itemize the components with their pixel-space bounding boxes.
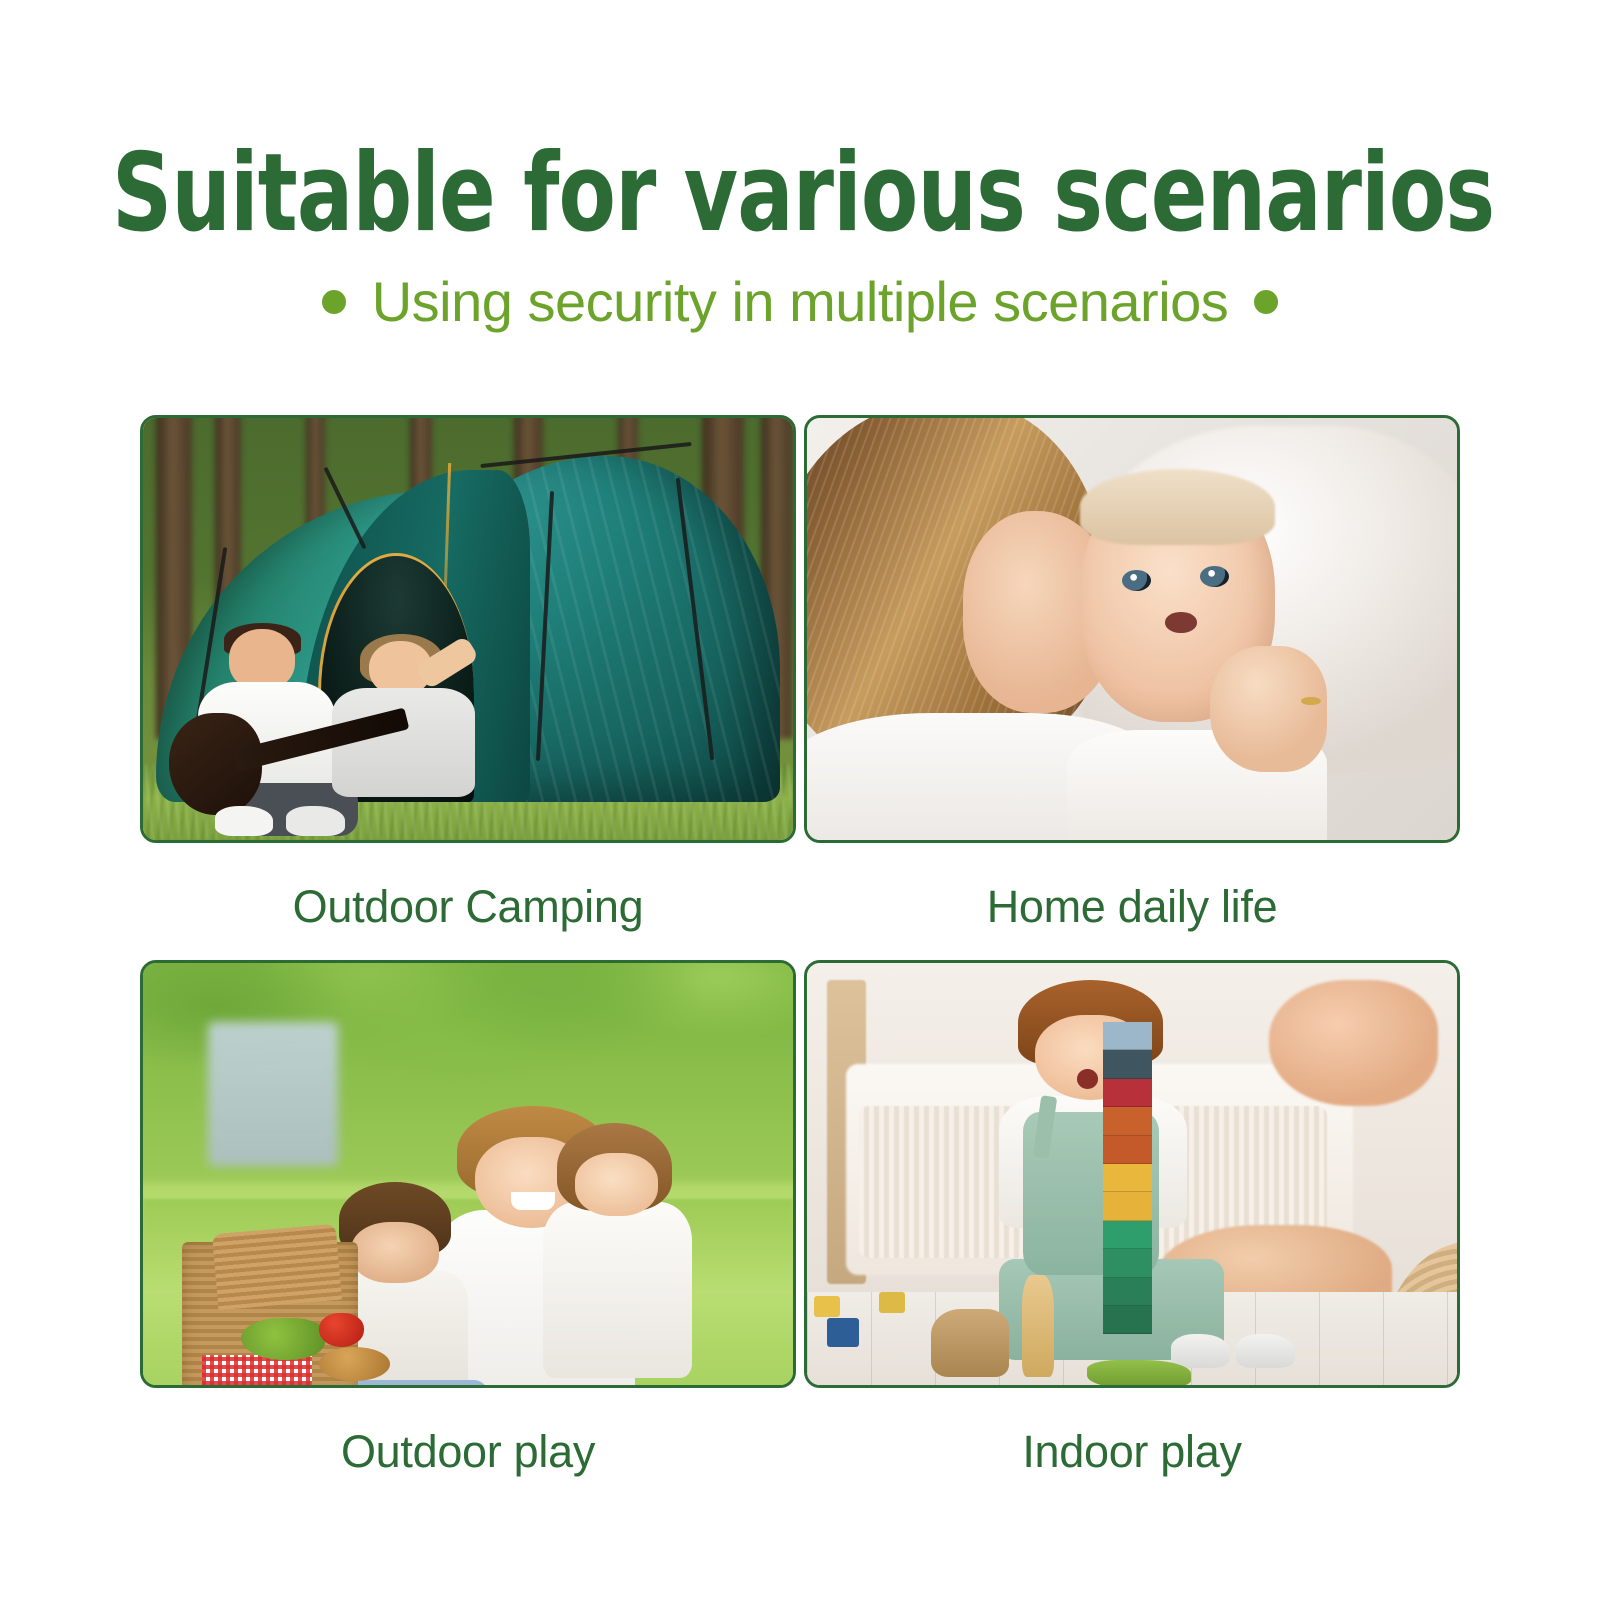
tower-block-8: [1103, 1221, 1152, 1249]
girl: [546, 1123, 689, 1368]
baby-mouth: [1165, 612, 1198, 633]
tower-block-2: [1103, 1050, 1152, 1078]
bread-loaf: [319, 1347, 391, 1381]
photo-outdoor-play: [143, 963, 793, 1385]
scenario-caption: Outdoor play: [140, 1388, 796, 1500]
tower-block-11: [1103, 1306, 1152, 1334]
wooden-giraffe-toy: [1022, 1275, 1055, 1376]
tower-block-5: [1103, 1136, 1152, 1164]
header: Suitable for various scenarios Using sec…: [0, 0, 1600, 332]
bullet-dot-right-icon: [1254, 290, 1278, 314]
baby-eye-right: [1200, 566, 1229, 587]
scenario-photo-frame: [804, 415, 1460, 843]
tower-block-4: [1103, 1107, 1152, 1135]
scenario-caption: Indoor play: [804, 1388, 1460, 1500]
loose-block-yellow: [814, 1296, 840, 1317]
photo-indoor-play: [807, 963, 1457, 1385]
plush-pillow: [1269, 980, 1438, 1107]
mother-hand: [1210, 646, 1327, 773]
basket-lid: [211, 1224, 341, 1310]
red-pepper: [319, 1313, 365, 1347]
checkered-cloth: [202, 1355, 313, 1385]
tower-block-9: [1103, 1249, 1152, 1277]
bullet-dot-left-icon: [322, 290, 346, 314]
photo-home-daily-life: [807, 418, 1457, 840]
scenario-grid: Outdoor Camping Home daily life: [140, 415, 1460, 1500]
lettuce: [241, 1318, 326, 1360]
loose-block-blue: [827, 1318, 860, 1348]
scenario-photo-frame: [140, 960, 796, 1388]
tower-block-10: [1103, 1278, 1152, 1306]
scenario-card-outdoor-camping[interactable]: Outdoor Camping: [140, 415, 796, 955]
scenario-photo-frame: [804, 960, 1460, 1388]
wedding-ring: [1301, 697, 1321, 705]
page-subtitle: Using security in multiple scenarios: [372, 272, 1229, 332]
loose-block-yellow-2: [879, 1292, 905, 1313]
scenario-card-indoor-play[interactable]: Indoor play: [804, 960, 1460, 1500]
tower-block-6: [1103, 1164, 1152, 1192]
tower-block-7: [1103, 1192, 1152, 1220]
page-title: Suitable for various scenarios: [112, 138, 1488, 250]
scenario-caption: Home daily life: [804, 843, 1460, 955]
scenario-card-home-daily-life[interactable]: Home daily life: [804, 415, 1460, 955]
block-tower: [1103, 1022, 1152, 1334]
tower-block-1: [1103, 1022, 1152, 1050]
tower-block-3: [1103, 1079, 1152, 1107]
scenario-photo-frame: [140, 415, 796, 843]
subtitle-row: Using security in multiple scenarios: [0, 272, 1600, 332]
background-house: [208, 1022, 338, 1165]
photo-outdoor-camping: [143, 418, 793, 840]
scenario-caption: Outdoor Camping: [140, 843, 796, 955]
wooden-elephant-toy: [931, 1309, 1009, 1377]
scenario-card-outdoor-play[interactable]: Outdoor play: [140, 960, 796, 1500]
guitar: [169, 713, 390, 814]
toddler: [976, 980, 1210, 1368]
baby-eye-left: [1122, 570, 1151, 591]
wooden-crocodile-toy: [1087, 1360, 1191, 1385]
baby-hair: [1080, 469, 1275, 545]
